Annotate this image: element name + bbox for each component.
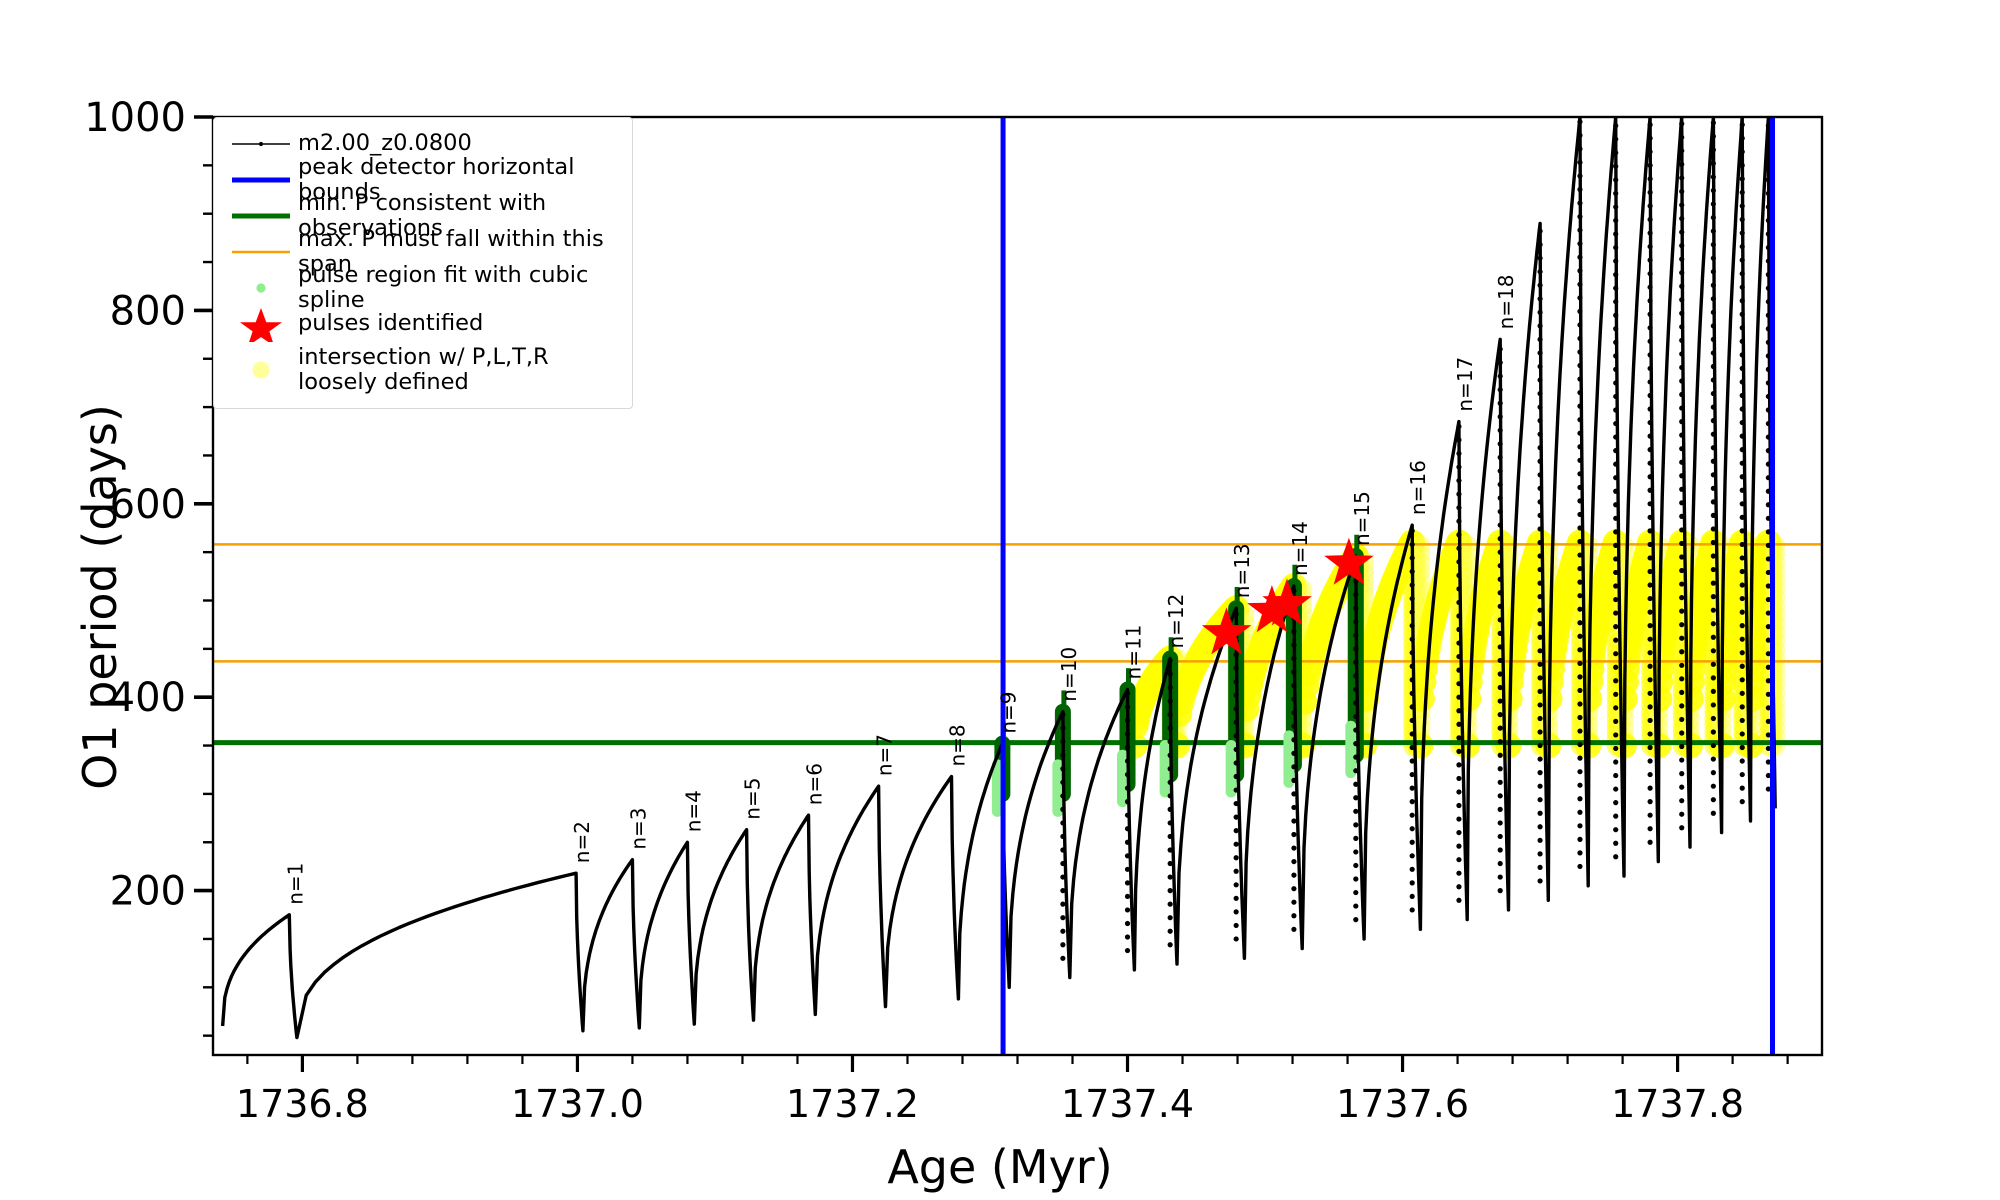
dot-lightgreen-icon bbox=[224, 270, 298, 306]
svg-text:n=13: n=13 bbox=[1230, 543, 1254, 598]
svg-text:1737.4: 1737.4 bbox=[1061, 1082, 1194, 1126]
svg-text:n=11: n=11 bbox=[1122, 625, 1146, 680]
figure-root: n=1n=2n=3n=4n=5n=6n=7n=8n=9n=10n=11n=12n… bbox=[0, 0, 2000, 1200]
svg-text:n=14: n=14 bbox=[1288, 521, 1312, 576]
line-green-icon bbox=[224, 198, 298, 234]
svg-text:n=16: n=16 bbox=[1406, 460, 1430, 515]
svg-text:n=9: n=9 bbox=[996, 691, 1020, 733]
svg-text:n=4: n=4 bbox=[681, 790, 705, 832]
svg-text:n=12: n=12 bbox=[1164, 594, 1188, 649]
svg-text:n=15: n=15 bbox=[1350, 491, 1374, 546]
dot-yellow-icon bbox=[224, 342, 298, 398]
svg-text:1737.8: 1737.8 bbox=[1611, 1082, 1744, 1126]
svg-text:1737.6: 1737.6 bbox=[1336, 1082, 1469, 1126]
svg-text:n=1: n=1 bbox=[283, 863, 307, 905]
legend-item-intersection: intersection w/ P,L,T,R loosely defined bbox=[224, 342, 622, 398]
legend-label-6: intersection w/ P,L,T,R loosely defined bbox=[298, 345, 549, 395]
svg-text:n=5: n=5 bbox=[741, 778, 765, 820]
svg-text:1737.0: 1737.0 bbox=[511, 1082, 644, 1126]
x-axis-label: Age (Myr) bbox=[0, 1140, 2000, 1194]
svg-text:n=3: n=3 bbox=[626, 807, 650, 849]
y-axis-label: O1 period (days) bbox=[73, 287, 127, 907]
legend-label-0: m2.00_z0.0800 bbox=[298, 131, 472, 156]
line-orange-icon bbox=[224, 234, 298, 270]
legend: m2.00_z0.0800 peak detector horizontal b… bbox=[213, 117, 633, 409]
line-marker-black-icon bbox=[224, 126, 298, 162]
svg-text:1736.8: 1736.8 bbox=[236, 1082, 369, 1126]
line-blue-icon bbox=[224, 162, 298, 198]
svg-text:n=8: n=8 bbox=[945, 724, 969, 766]
svg-text:n=10: n=10 bbox=[1057, 647, 1081, 702]
svg-text:n=2: n=2 bbox=[570, 821, 594, 863]
legend-label-4: pulse region fit with cubic spline bbox=[298, 263, 622, 313]
svg-text:1737.2: 1737.2 bbox=[786, 1082, 919, 1126]
svg-text:1000: 1000 bbox=[84, 95, 186, 141]
legend-item-spline: pulse region fit with cubic spline bbox=[224, 270, 622, 306]
svg-text:n=6: n=6 bbox=[802, 763, 826, 805]
star-red-icon bbox=[224, 306, 298, 342]
svg-text:n=17: n=17 bbox=[1453, 357, 1477, 412]
svg-text:n=7: n=7 bbox=[873, 734, 897, 776]
svg-text:n=18: n=18 bbox=[1494, 275, 1518, 330]
legend-label-5: pulses identified bbox=[298, 311, 483, 336]
